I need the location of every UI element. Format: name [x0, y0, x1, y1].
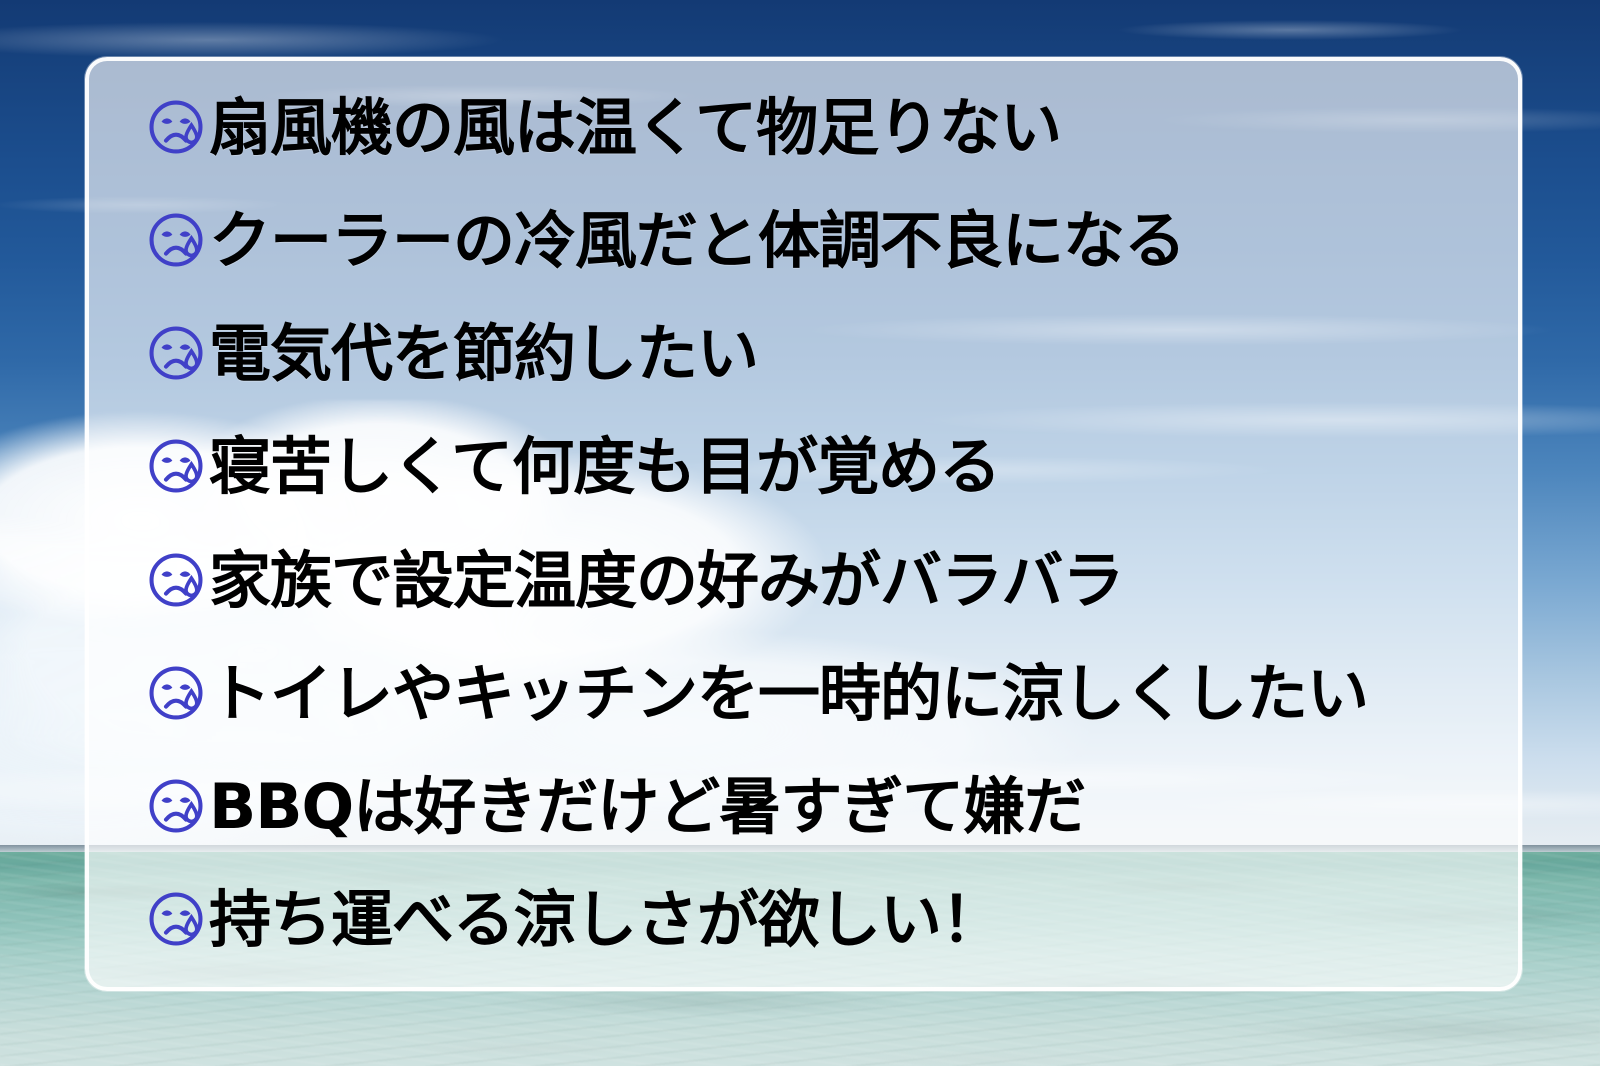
list-item-label: 持ち運べる涼しさが欲しい！ [209, 889, 1002, 951]
background-scene: 扇風機の風は温くて物足りない クーラーの冷風だと体調不良になる [0, 0, 1600, 1066]
list-item: 電気代を節約したい [89, 298, 1518, 411]
list-item-label: 扇風機の風は温くて物足りない [209, 97, 1061, 159]
crying-face-icon [147, 890, 205, 948]
pain-points-panel: 扇風機の風は温くて物足りない クーラーの冷風だと体調不良になる [85, 57, 1522, 991]
crying-face-icon [147, 324, 205, 382]
list-item-label: 家族で設定温度の好みがバラバラ [209, 550, 1123, 612]
list-item-label: 寝苦しくて何度も目が覚める [209, 436, 1000, 498]
list-item: 扇風機の風は温くて物足りない [89, 71, 1518, 184]
list-item: 寝苦しくて何度も目が覚める [89, 411, 1518, 524]
list-item-label: BBQは好きだけど暑すぎて嫌だ [209, 776, 1085, 838]
crying-face-icon [147, 437, 205, 495]
list-item-label: クーラーの冷風だと体調不良になる [209, 210, 1185, 272]
list-item-label: トイレやキッチンを一時的に涼しくしたい [209, 663, 1368, 725]
list-item: クーラーの冷風だと体調不良になる [89, 184, 1518, 297]
list-item: トイレやキッチンを一時的に涼しくしたい [89, 637, 1518, 750]
crying-face-icon [147, 551, 205, 609]
crying-face-icon [147, 777, 205, 835]
crying-face-icon [147, 98, 205, 156]
crying-face-icon [147, 211, 205, 269]
list-item: 家族で設定温度の好みがバラバラ [89, 524, 1518, 637]
list-item: 持ち運べる涼しさが欲しい！ [89, 864, 1518, 977]
list-item: BBQは好きだけど暑すぎて嫌だ [89, 751, 1518, 864]
list-item-label: 電気代を節約したい [209, 323, 758, 385]
crying-face-icon [147, 664, 205, 722]
